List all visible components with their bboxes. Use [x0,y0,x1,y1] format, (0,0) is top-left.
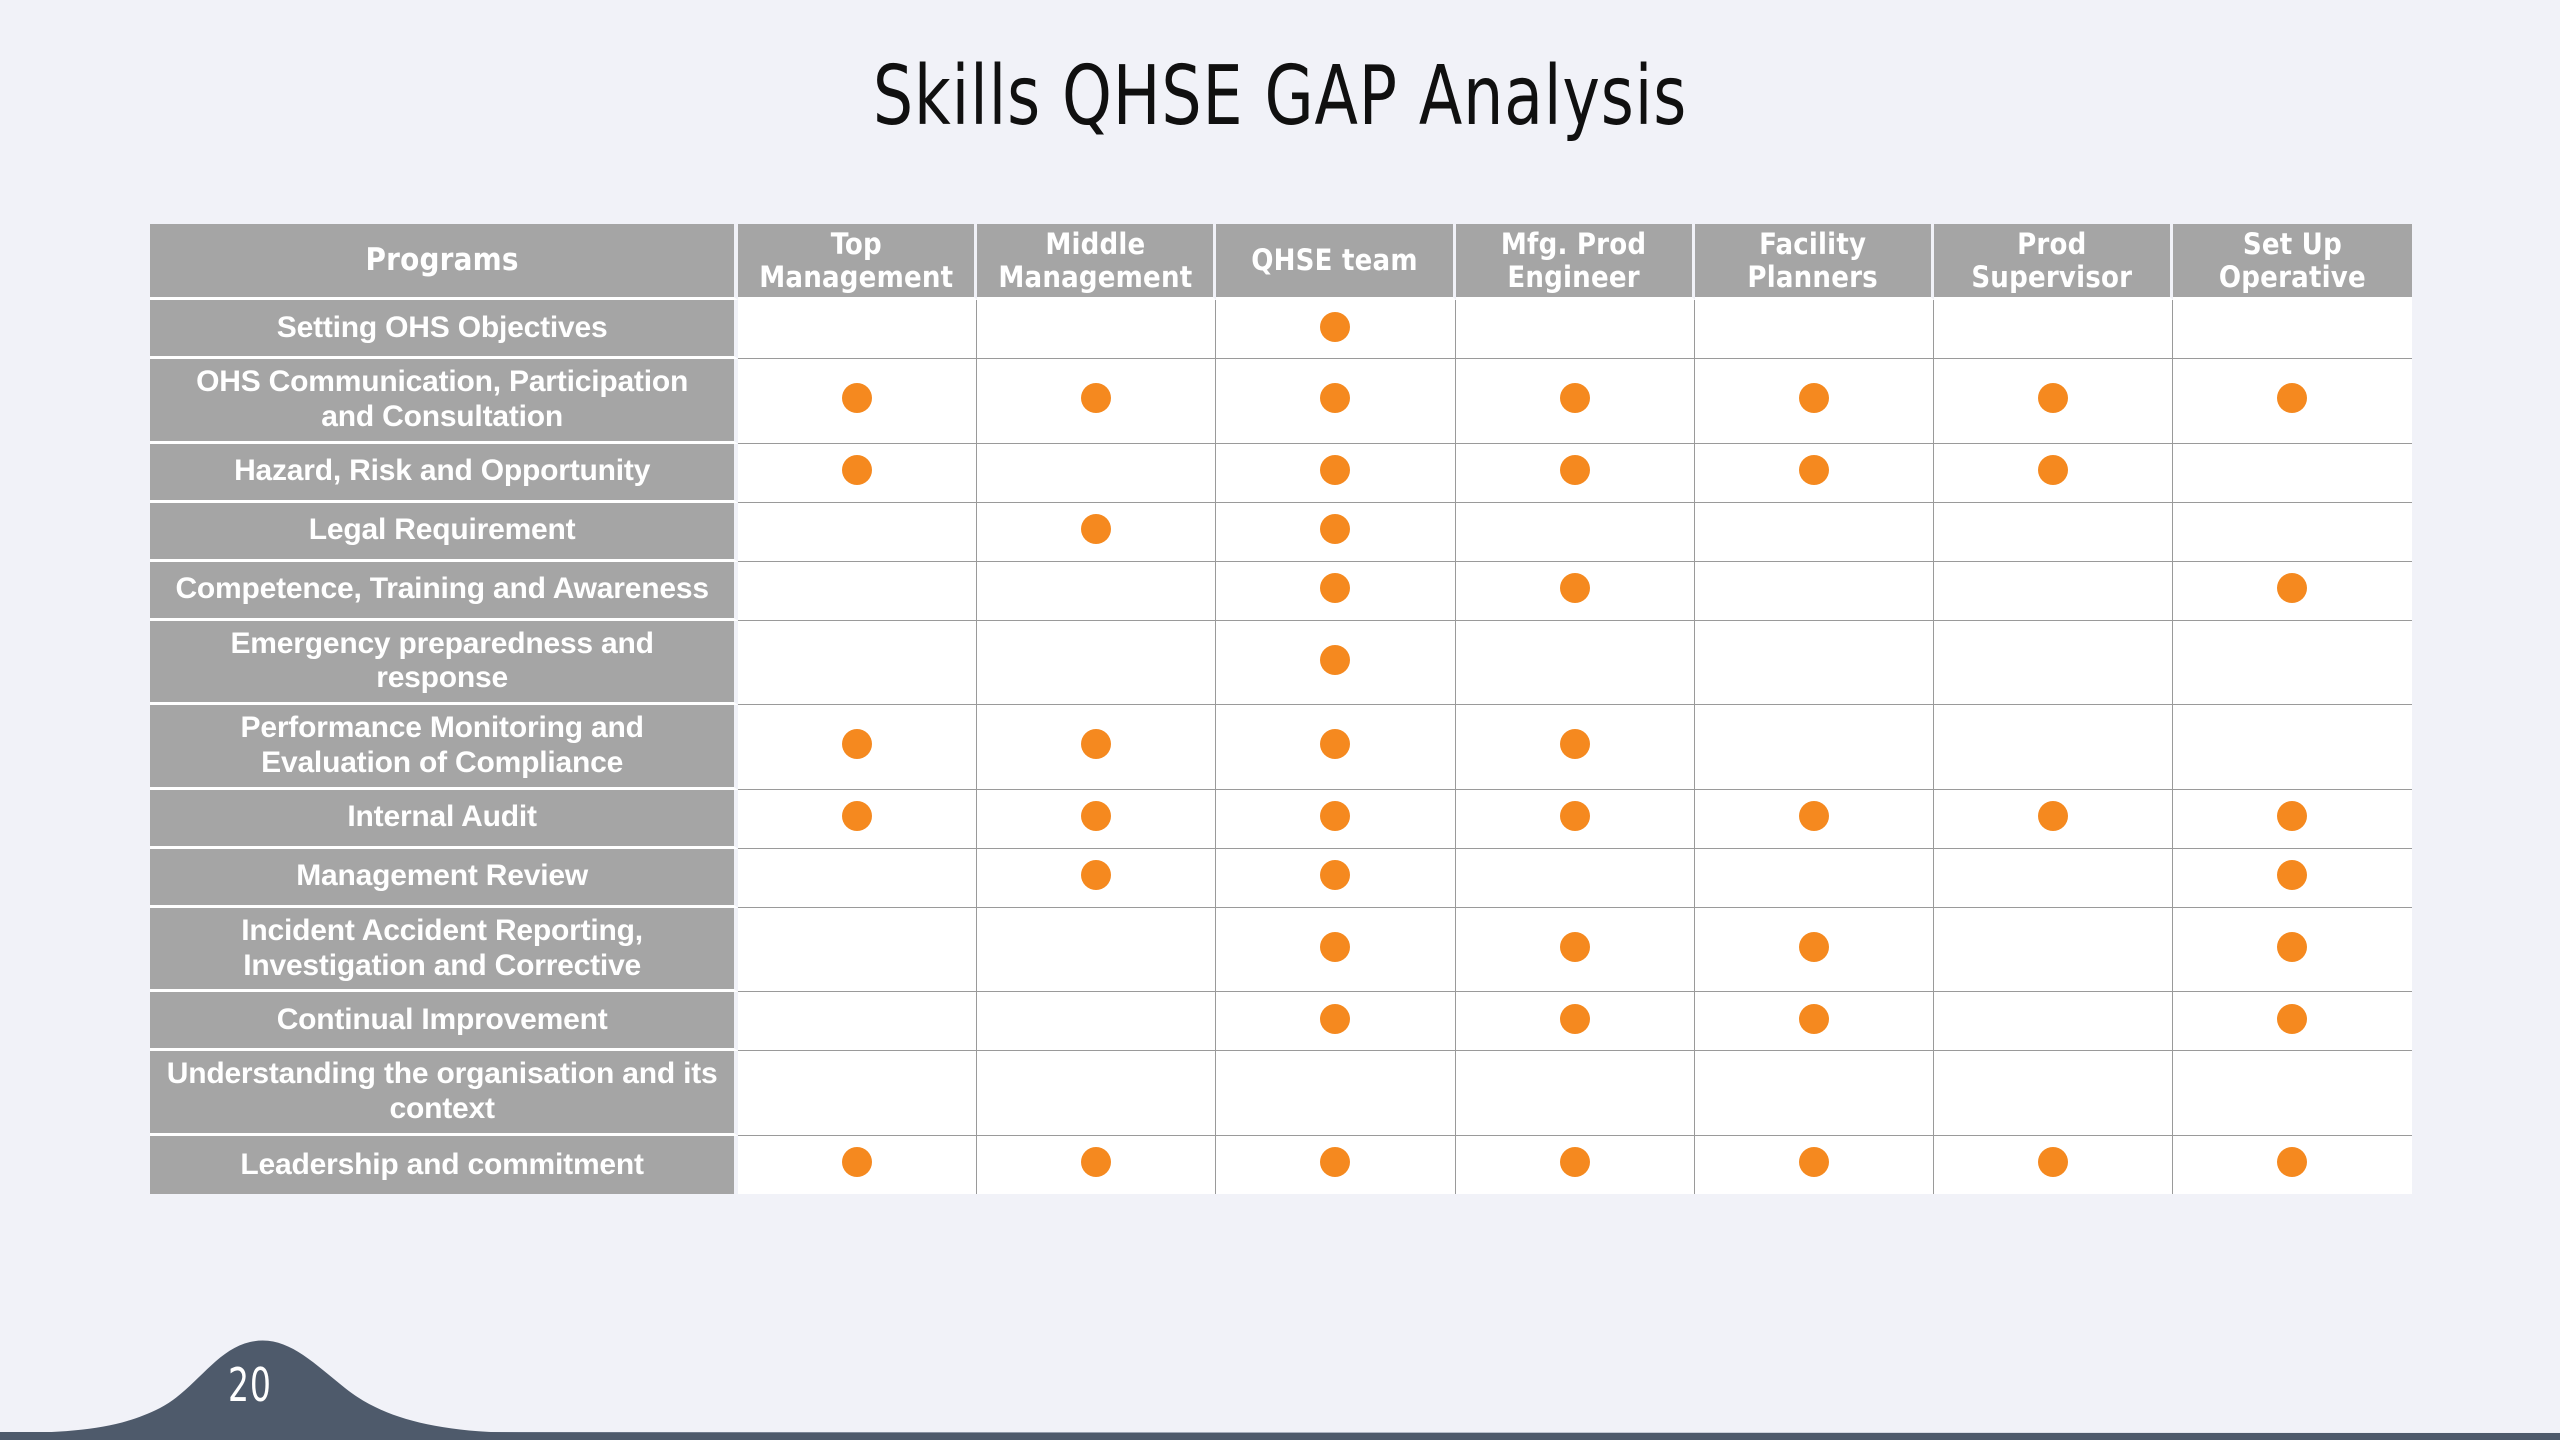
column-header-facility-planners: Facility Planners [1695,224,1934,300]
matrix-cell[interactable] [1695,790,1934,849]
matrix-cell[interactable] [1695,1051,1934,1136]
matrix-cell[interactable] [2173,444,2412,503]
matrix-cell[interactable] [2173,790,2412,849]
matrix-cell[interactable] [738,908,977,993]
matrix-cell[interactable] [1456,1136,1695,1194]
skill-dot-icon [1081,860,1111,890]
matrix-cell[interactable] [2173,705,2412,790]
matrix-cell[interactable] [1456,705,1695,790]
matrix-cell[interactable] [1456,621,1695,706]
empty-cell-marker [2038,860,2068,890]
empty-cell-marker [842,1004,872,1034]
empty-cell-marker [1799,645,1829,675]
matrix-cell[interactable] [977,503,1216,562]
row-label: OHS Communication, Participation and Con… [150,359,738,444]
skill-dot-icon [2038,455,2068,485]
row-label: Emergency preparedness and response [150,621,738,706]
matrix-cell[interactable] [1934,621,2173,706]
matrix-cell[interactable] [738,1051,977,1136]
matrix-cell[interactable] [977,908,1216,993]
empty-cell-marker [1081,1004,1111,1034]
empty-cell-marker [2277,312,2307,342]
skill-dot-icon [1320,860,1350,890]
skill-dot-icon [1320,801,1350,831]
matrix-cell[interactable] [977,1051,1216,1136]
empty-cell-marker [2038,729,2068,759]
table-row: Incident Accident Reporting, Investigati… [150,908,2412,993]
matrix-cell[interactable] [1934,908,2173,993]
table-row: Continual Improvement [150,992,2412,1051]
empty-cell-marker [2038,573,2068,603]
empty-cell-marker [2277,645,2307,675]
matrix-cell[interactable] [977,1136,1216,1194]
column-header-middle-management: Middle Management [977,224,1216,300]
matrix-cell[interactable] [1934,1136,2173,1194]
column-header-set-up-operative: Set Up Operative [2173,224,2412,300]
matrix-cell[interactable] [1216,705,1455,790]
skills-matrix-table: Programs Top Management Middle Managemen… [150,224,2412,1194]
matrix-cell[interactable] [977,359,1216,444]
page-number: 20 [228,1358,272,1412]
matrix-cell[interactable] [2173,992,2412,1051]
row-label: Hazard, Risk and Opportunity [150,444,738,503]
matrix-cell[interactable] [1216,503,1455,562]
column-header-qhse-team: QHSE team [1216,224,1455,300]
row-label: Incident Accident Reporting, Investigati… [150,908,738,993]
row-label: Performance Monitoring and Evaluation of… [150,705,738,790]
table-body: Setting OHS ObjectivesOHS Communication,… [150,300,2412,1194]
matrix-cell[interactable] [1216,444,1455,503]
empty-cell-marker [2277,455,2307,485]
matrix-cell[interactable] [738,503,977,562]
skill-dot-icon [1799,455,1829,485]
matrix-cell[interactable] [1456,300,1695,359]
matrix-cell[interactable] [738,705,977,790]
matrix-cell[interactable] [1934,849,2173,908]
matrix-cell[interactable] [1695,444,1934,503]
empty-cell-marker [842,860,872,890]
skill-dot-icon [1560,383,1590,413]
empty-cell-marker [2038,932,2068,962]
empty-cell-marker [2038,312,2068,342]
table-row: Competence, Training and Awareness [150,562,2412,621]
matrix-cell[interactable] [2173,1051,2412,1136]
empty-cell-marker [2038,1004,2068,1034]
skill-dot-icon [1560,801,1590,831]
table-row: Hazard, Risk and Opportunity [150,444,2412,503]
skill-dot-icon [2038,801,2068,831]
skill-dot-icon [1560,573,1590,603]
matrix-cell[interactable] [2173,908,2412,993]
matrix-cell[interactable] [2173,300,2412,359]
skill-dot-icon [1081,514,1111,544]
matrix-cell[interactable] [977,705,1216,790]
matrix-cell[interactable] [2173,359,2412,444]
skill-dot-icon [1320,573,1350,603]
empty-cell-marker [1799,573,1829,603]
empty-cell-marker [2038,1076,2068,1106]
empty-cell-marker [842,645,872,675]
skill-dot-icon [1081,383,1111,413]
matrix-cell[interactable] [1934,790,2173,849]
skill-dot-icon [1320,932,1350,962]
skill-dot-icon [1799,801,1829,831]
empty-cell-marker [2277,1076,2307,1106]
matrix-cell[interactable] [1216,359,1455,444]
bottom-strip [0,1432,2560,1440]
matrix-cell[interactable] [1216,849,1455,908]
matrix-cell[interactable] [1695,562,1934,621]
empty-cell-marker [1560,860,1590,890]
empty-cell-marker [842,312,872,342]
empty-cell-marker [1560,1076,1590,1106]
table-row: Legal Requirement [150,503,2412,562]
matrix-cell[interactable] [977,562,1216,621]
empty-cell-marker [1560,514,1590,544]
skill-dot-icon [842,455,872,485]
row-label: Understanding the organisation and its c… [150,1051,738,1136]
gap-analysis-matrix: Programs Top Management Middle Managemen… [150,224,2412,1194]
matrix-cell[interactable] [1934,562,2173,621]
matrix-cell[interactable] [1216,790,1455,849]
skill-dot-icon [1320,514,1350,544]
empty-cell-marker [2277,514,2307,544]
matrix-cell[interactable] [977,300,1216,359]
matrix-cell[interactable] [1456,849,1695,908]
empty-cell-marker [842,1076,872,1106]
bottom-decoration [0,1320,2560,1440]
skill-dot-icon [1560,455,1590,485]
matrix-cell[interactable] [1695,705,1934,790]
matrix-cell[interactable] [738,992,977,1051]
matrix-cell[interactable] [1934,359,2173,444]
row-label: Competence, Training and Awareness [150,562,738,621]
skill-dot-icon [1081,729,1111,759]
bell-curve-shape [0,1341,2560,1440]
matrix-cell[interactable] [977,621,1216,706]
matrix-cell[interactable] [977,849,1216,908]
table-row: Internal Audit [150,790,2412,849]
matrix-cell[interactable] [1695,1136,1934,1194]
table-header: Programs Top Management Middle Managemen… [150,224,2412,300]
header-row: Programs Top Management Middle Managemen… [150,224,2412,300]
matrix-cell[interactable] [738,444,977,503]
empty-cell-marker [1081,312,1111,342]
matrix-cell[interactable] [1934,444,2173,503]
matrix-cell[interactable] [1934,300,2173,359]
matrix-cell[interactable] [738,621,977,706]
matrix-cell[interactable] [977,790,1216,849]
empty-cell-marker [1081,932,1111,962]
matrix-cell[interactable] [738,849,977,908]
table-row: Management Review [150,849,2412,908]
skill-dot-icon [2277,1147,2307,1177]
table-row: Leadership and commitment [150,1136,2412,1194]
skill-dot-icon [1320,455,1350,485]
skill-dot-icon [1560,932,1590,962]
empty-cell-marker [1799,312,1829,342]
empty-cell-marker [2038,514,2068,544]
empty-cell-marker [1799,1076,1829,1106]
matrix-cell[interactable] [1695,908,1934,993]
matrix-cell[interactable] [1216,300,1455,359]
table-row: Emergency preparedness and response [150,621,2412,706]
skill-dot-icon [1320,312,1350,342]
skill-dot-icon [842,729,872,759]
empty-cell-marker [1320,1076,1350,1106]
skill-dot-icon [1320,645,1350,675]
matrix-cell[interactable] [1216,1051,1455,1136]
page-title: Skills QHSE GAP Analysis [179,56,2381,138]
matrix-cell[interactable] [1456,562,1695,621]
column-header-prod-supervisor: Prod Supervisor [1934,224,2173,300]
skill-dot-icon [1799,1004,1829,1034]
skill-dot-icon [1320,729,1350,759]
table-row: Performance Monitoring and Evaluation of… [150,705,2412,790]
skill-dot-icon [842,383,872,413]
matrix-cell[interactable] [738,790,977,849]
skill-dot-icon [2038,383,2068,413]
matrix-cell[interactable] [1456,790,1695,849]
row-label: Legal Requirement [150,503,738,562]
skill-dot-icon [842,801,872,831]
empty-cell-marker [842,514,872,544]
empty-cell-marker [1560,645,1590,675]
matrix-cell[interactable] [1934,705,2173,790]
matrix-cell[interactable] [1695,621,1934,706]
skill-dot-icon [2277,573,2307,603]
empty-cell-marker [2277,729,2307,759]
skill-dot-icon [2038,1147,2068,1177]
empty-cell-marker [1081,645,1111,675]
matrix-cell[interactable] [1456,992,1695,1051]
matrix-cell[interactable] [1456,908,1695,993]
matrix-cell[interactable] [1456,444,1695,503]
row-label: Setting OHS Objectives [150,300,738,359]
row-label: Internal Audit [150,790,738,849]
table-row: OHS Communication, Participation and Con… [150,359,2412,444]
matrix-cell[interactable] [1216,1136,1455,1194]
empty-cell-marker [1799,514,1829,544]
skill-dot-icon [842,1147,872,1177]
skill-dot-icon [1799,1147,1829,1177]
skill-dot-icon [1799,383,1829,413]
matrix-cell[interactable] [977,444,1216,503]
matrix-cell[interactable] [1934,992,2173,1051]
row-label: Leadership and commitment [150,1136,738,1194]
empty-cell-marker [1799,729,1829,759]
matrix-cell[interactable] [738,562,977,621]
column-header-top-management: Top Management [738,224,977,300]
skill-dot-icon [1799,932,1829,962]
matrix-cell[interactable] [1695,503,1934,562]
empty-cell-marker [2038,645,2068,675]
matrix-cell[interactable] [1695,359,1934,444]
skill-dot-icon [1560,1147,1590,1177]
skill-dot-icon [1560,729,1590,759]
matrix-cell[interactable] [977,992,1216,1051]
matrix-cell[interactable] [1216,621,1455,706]
table-row: Understanding the organisation and its c… [150,1051,2412,1136]
empty-cell-marker [1799,860,1829,890]
table-row: Setting OHS Objectives [150,300,2412,359]
matrix-cell[interactable] [1456,359,1695,444]
matrix-cell[interactable] [1216,992,1455,1051]
skill-dot-icon [1320,383,1350,413]
matrix-cell[interactable] [1456,1051,1695,1136]
row-label: Management Review [150,849,738,908]
empty-cell-marker [842,932,872,962]
matrix-cell[interactable] [1456,503,1695,562]
skill-dot-icon [2277,801,2307,831]
skill-dot-icon [2277,383,2307,413]
empty-cell-marker [1081,455,1111,485]
matrix-cell[interactable] [2173,621,2412,706]
row-label: Continual Improvement [150,992,738,1051]
matrix-cell[interactable] [1216,562,1455,621]
matrix-cell[interactable] [738,300,977,359]
matrix-cell[interactable] [2173,503,2412,562]
skill-dot-icon [2277,1004,2307,1034]
matrix-cell[interactable] [1695,992,1934,1051]
column-header-mfg-prod-engineer: Mfg. Prod Engineer [1456,224,1695,300]
skill-dot-icon [1081,801,1111,831]
matrix-cell[interactable] [1695,849,1934,908]
matrix-cell[interactable] [2173,849,2412,908]
matrix-cell[interactable] [2173,1136,2412,1194]
empty-cell-marker [1081,1076,1111,1106]
empty-cell-marker [1560,312,1590,342]
skill-dot-icon [2277,932,2307,962]
matrix-cell[interactable] [1934,1051,2173,1136]
skill-dot-icon [1081,1147,1111,1177]
empty-cell-marker [1081,573,1111,603]
matrix-cell[interactable] [2173,562,2412,621]
skill-dot-icon [1320,1004,1350,1034]
skill-dot-icon [1560,1004,1590,1034]
skill-dot-icon [2277,860,2307,890]
matrix-cell[interactable] [1216,908,1455,993]
skill-dot-icon [1320,1147,1350,1177]
column-header-programs: Programs [150,224,738,300]
empty-cell-marker [842,573,872,603]
matrix-cell[interactable] [1695,300,1934,359]
matrix-cell[interactable] [738,359,977,444]
matrix-cell[interactable] [738,1136,977,1194]
matrix-cell[interactable] [1934,503,2173,562]
